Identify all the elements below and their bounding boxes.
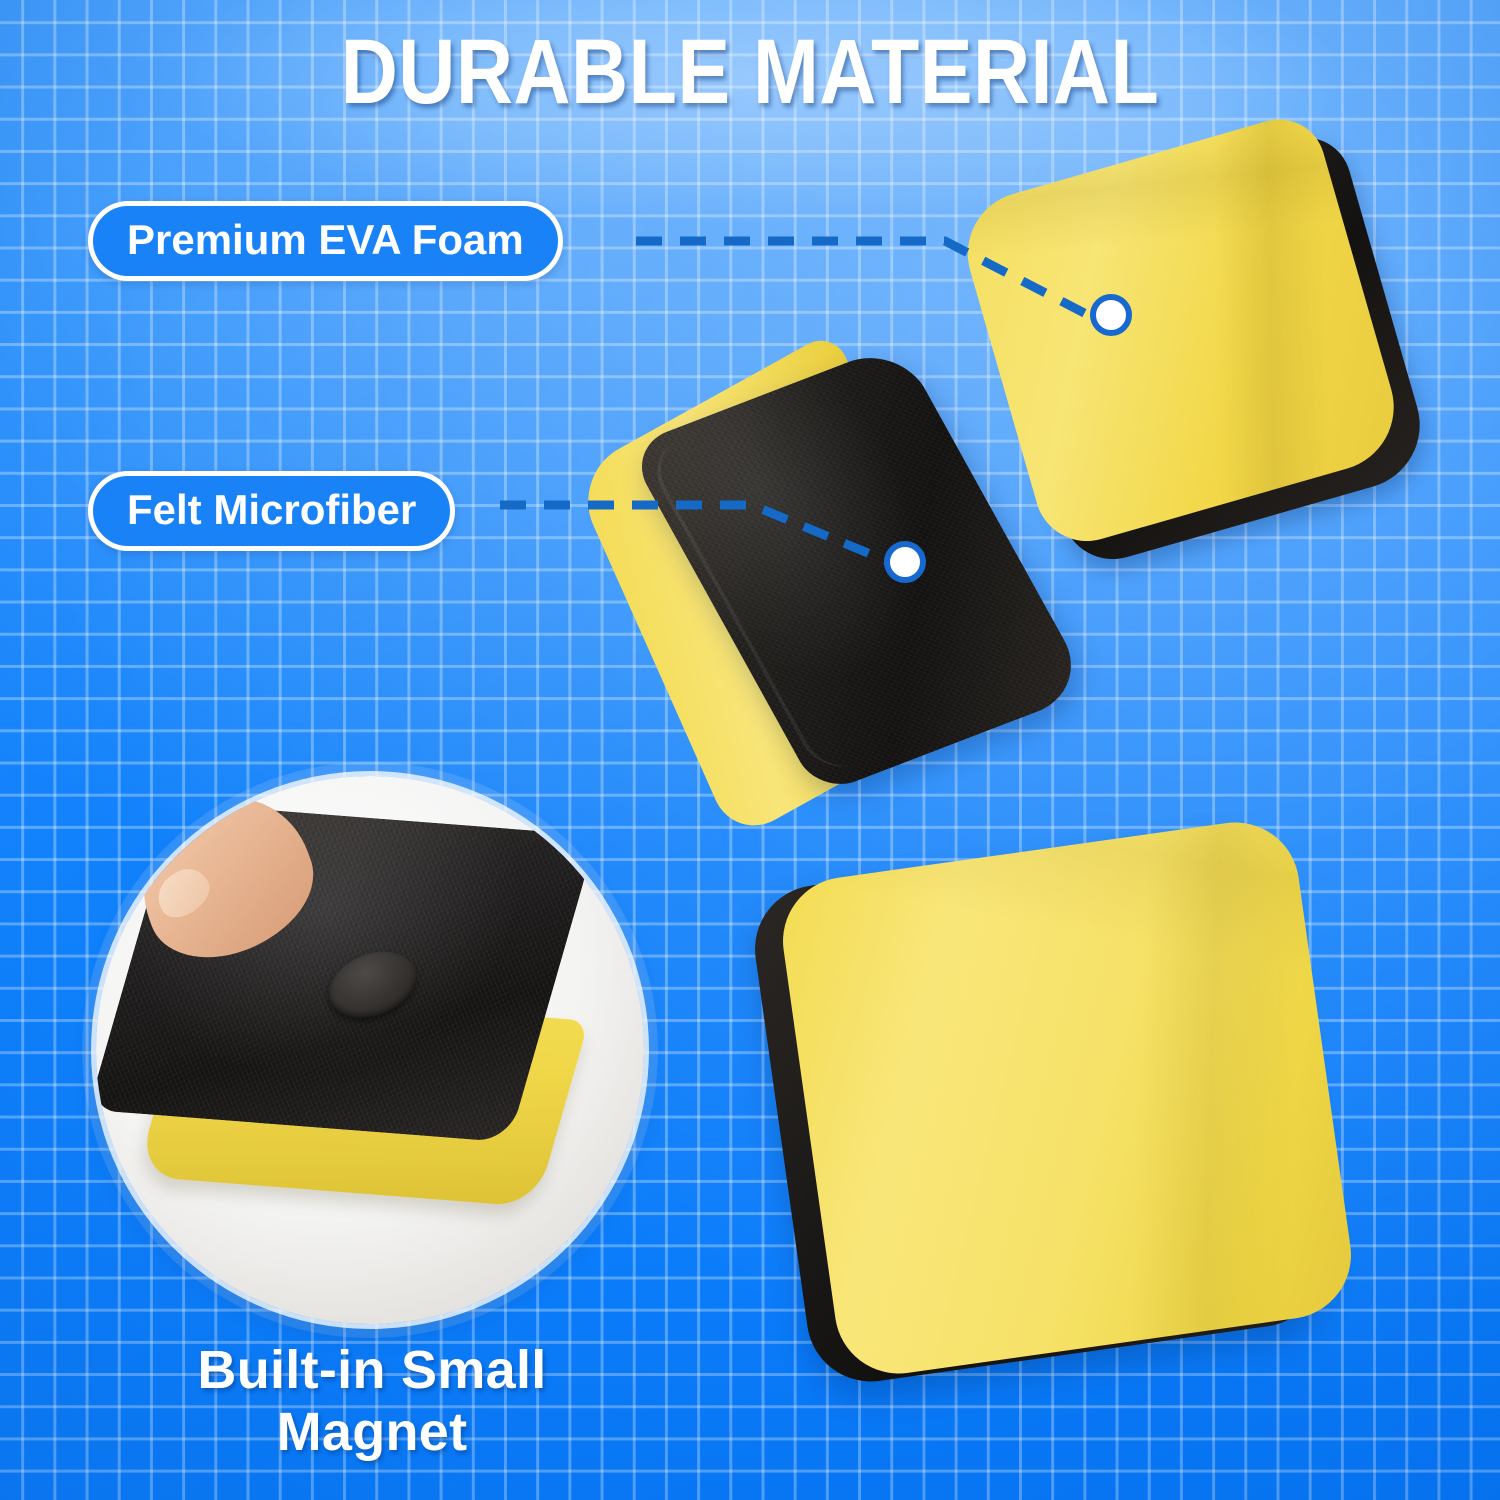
callout-dot-felt-icon [884, 541, 926, 583]
magnet-detail-photo [96, 776, 644, 1324]
eraser-top-right [995, 145, 1415, 545]
eraser-middle-angled [628, 368, 1048, 828]
callout-badge-premium-eva-foam[interactable]: Premium EVA Foam [88, 201, 563, 281]
eraser-bottom-right [775, 840, 1395, 1460]
page-title: DURABLE MATERIAL [105, 24, 1395, 121]
magnet-caption-line1: Built-in Small [78, 1340, 666, 1402]
callout-badge-felt-microfiber[interactable]: Felt Microfiber [88, 471, 455, 551]
callout-dot-eva-icon [1090, 294, 1132, 336]
magnet-caption-line2: Magnet [78, 1402, 666, 1464]
callout-badge-felt-label: Felt Microfiber [127, 486, 416, 534]
callout-badge-eva-label: Premium EVA Foam [127, 216, 524, 264]
eraser-big-shading [775, 814, 1360, 1382]
eraser-photo-group [104, 796, 602, 1248]
magnet-caption: Built-in Small Magnet [78, 1340, 666, 1463]
product-infographic: DURABLE MATERIAL [0, 0, 1500, 1500]
photo-disc [96, 776, 644, 1324]
